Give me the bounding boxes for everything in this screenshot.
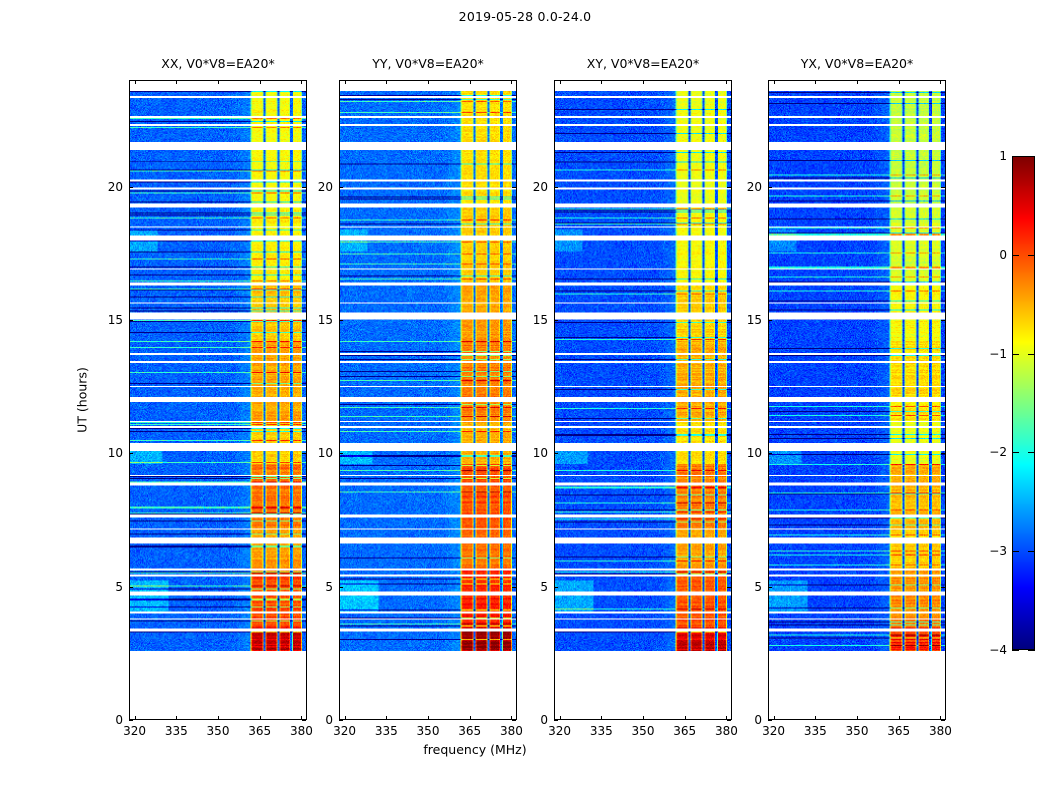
y-tick-0: 0 [732, 713, 762, 727]
y-tick-15: 15 [303, 313, 333, 327]
x-tickmark [135, 80, 136, 84]
x-tickmark [176, 716, 177, 720]
x-tick-320: 320 [333, 724, 356, 738]
colorbar-tickmark [1012, 354, 1019, 355]
x-tick-350: 350 [417, 724, 440, 738]
y-tick-5: 5 [732, 580, 762, 594]
y-tick-labels-panel-3: 05101520 [732, 80, 762, 720]
x-tick-335: 335 [590, 724, 613, 738]
x-tick-320: 320 [123, 724, 146, 738]
panel-yy[interactable] [339, 80, 517, 720]
y-tick-0: 0 [303, 713, 333, 727]
panel-yx[interactable] [768, 80, 946, 720]
y-tickmark [554, 587, 558, 588]
y-tickmark [768, 320, 772, 321]
y-tick-20: 20 [303, 180, 333, 194]
x-tickmark [774, 80, 775, 84]
colorbar-tickmark [1028, 156, 1035, 157]
x-tickmark [260, 80, 261, 84]
x-tickmark [470, 716, 471, 720]
y-tickmark [554, 187, 558, 188]
x-tick-365: 365 [673, 724, 696, 738]
colorbar-tick--4: −4 [989, 643, 1007, 657]
x-tickmark [685, 80, 686, 84]
y-tick-15: 15 [93, 313, 123, 327]
x-tickmark [643, 80, 644, 84]
x-tick-335: 335 [804, 724, 827, 738]
x-tick-350: 350 [207, 724, 230, 738]
colorbar-tick-1: 1 [999, 149, 1007, 163]
y-tick-10: 10 [93, 446, 123, 460]
x-tickmark [386, 80, 387, 84]
y-tickmark [512, 720, 516, 721]
y-tickmark [554, 453, 558, 454]
x-tickmark [386, 716, 387, 720]
y-tickmark [512, 587, 516, 588]
y-tickmark [512, 320, 516, 321]
x-tickmark [428, 80, 429, 84]
x-axis-label: frequency (MHz) [0, 742, 950, 757]
x-tickmark [428, 716, 429, 720]
y-tickmark [339, 720, 343, 721]
x-tick-335: 335 [165, 724, 188, 738]
colorbar-tick-labels: −4−3−2−101 [975, 156, 1007, 650]
x-tick-350: 350 [846, 724, 869, 738]
y-tickmark [512, 187, 516, 188]
y-tickmark [727, 587, 731, 588]
y-axis-label: UT (hours) [75, 300, 90, 500]
x-tickmark [601, 80, 602, 84]
y-tickmark [129, 720, 133, 721]
x-tickmark [218, 80, 219, 84]
panel-title-yy: YY, V0*V8=EA20* [339, 56, 517, 71]
colorbar-tick-0: 0 [999, 248, 1007, 262]
x-tick-320: 320 [548, 724, 571, 738]
x-tickmark [601, 716, 602, 720]
heatmap-xx [130, 81, 306, 719]
y-tickmark [129, 187, 133, 188]
colorbar-tickmark [1012, 650, 1019, 651]
y-tickmark [129, 453, 133, 454]
y-tick-5: 5 [518, 580, 548, 594]
x-tickmark [345, 80, 346, 84]
x-tickmark [260, 716, 261, 720]
y-tick-5: 5 [93, 580, 123, 594]
x-tick-335: 335 [375, 724, 398, 738]
x-tickmark [643, 716, 644, 720]
y-tickmark [512, 453, 516, 454]
x-tickmark [726, 80, 727, 84]
y-tickmark [554, 320, 558, 321]
colorbar-tickmark [1028, 255, 1035, 256]
x-tickmark [560, 80, 561, 84]
y-tickmark [941, 720, 945, 721]
y-tickmark [727, 187, 731, 188]
panel-title-yx: YX, V0*V8=EA20* [768, 56, 946, 71]
x-tickmark [560, 716, 561, 720]
colorbar[interactable] [1012, 156, 1035, 650]
y-tick-10: 10 [303, 446, 333, 460]
x-tickmark [815, 716, 816, 720]
y-tick-20: 20 [518, 180, 548, 194]
y-tickmark [554, 720, 558, 721]
heatmap-yx [769, 81, 945, 719]
x-tickmark [899, 716, 900, 720]
x-tickmark [345, 716, 346, 720]
x-tickmark [685, 716, 686, 720]
y-tickmark [768, 453, 772, 454]
colorbar-tick--1: −1 [989, 347, 1007, 361]
y-tick-10: 10 [518, 446, 548, 460]
x-tick-320: 320 [762, 724, 785, 738]
y-tickmark [768, 187, 772, 188]
colorbar-tickmark [1012, 551, 1019, 552]
y-tick-20: 20 [93, 180, 123, 194]
x-tickmark [857, 80, 858, 84]
colorbar-tick--3: −3 [989, 544, 1007, 558]
y-tickmark [339, 187, 343, 188]
x-tickmark [511, 80, 512, 84]
y-tickmark [768, 720, 772, 721]
y-tickmark [941, 187, 945, 188]
colorbar-tickmark [1012, 255, 1019, 256]
colorbar-tickmark [1012, 452, 1019, 453]
x-tickmark [857, 716, 858, 720]
heatmap-yy [340, 81, 516, 719]
x-tick-365: 365 [248, 724, 271, 738]
y-tick-15: 15 [732, 313, 762, 327]
x-tickmark [899, 80, 900, 84]
colorbar-tickmark [1012, 156, 1019, 157]
y-tick-5: 5 [303, 580, 333, 594]
panel-title-xy: XY, V0*V8=EA20* [554, 56, 732, 71]
y-tickmark [727, 320, 731, 321]
y-tick-0: 0 [518, 713, 548, 727]
x-tickmark [218, 716, 219, 720]
y-tickmark [129, 587, 133, 588]
x-tickmark [470, 80, 471, 84]
y-tickmark [129, 320, 133, 321]
y-tick-labels-panel-1: 05101520 [303, 80, 333, 720]
y-tick-10: 10 [732, 446, 762, 460]
x-tick-365: 365 [887, 724, 910, 738]
panel-xx[interactable] [129, 80, 307, 720]
figure-suptitle: 2019-05-28 0.0-24.0 [0, 9, 1050, 24]
y-tick-labels-panel-2: 05101520 [518, 80, 548, 720]
heatmap-xy [555, 81, 731, 719]
y-tickmark [941, 587, 945, 588]
y-tickmark [339, 320, 343, 321]
y-tick-15: 15 [518, 313, 548, 327]
y-tick-0: 0 [93, 713, 123, 727]
figure-canvas: 2019-05-28 0.0-24.0 XX, V0*V8=EA20* YY, … [0, 0, 1050, 800]
y-tickmark [339, 587, 343, 588]
colorbar-tickmark [1028, 650, 1035, 651]
y-tickmark [768, 587, 772, 588]
y-tick-20: 20 [732, 180, 762, 194]
y-tickmark [339, 453, 343, 454]
colorbar-tick--2: −2 [989, 445, 1007, 459]
x-tickmark [774, 716, 775, 720]
x-tick-365: 365 [458, 724, 481, 738]
panel-xy[interactable] [554, 80, 732, 720]
y-tickmark [727, 720, 731, 721]
y-tickmark [941, 453, 945, 454]
colorbar-tickmark [1028, 452, 1035, 453]
x-tickmark [940, 80, 941, 84]
y-tickmark [727, 453, 731, 454]
colorbar-tickmark [1028, 551, 1035, 552]
x-tick-380: 380 [929, 724, 952, 738]
panel-title-xx: XX, V0*V8=EA20* [129, 56, 307, 71]
colorbar-tickmark [1028, 354, 1035, 355]
x-tick-350: 350 [632, 724, 655, 738]
y-tickmark [941, 320, 945, 321]
y-tick-labels-panel-0: 05101520 [93, 80, 123, 720]
x-tickmark [815, 80, 816, 84]
x-tickmark [176, 80, 177, 84]
x-tickmark [135, 716, 136, 720]
